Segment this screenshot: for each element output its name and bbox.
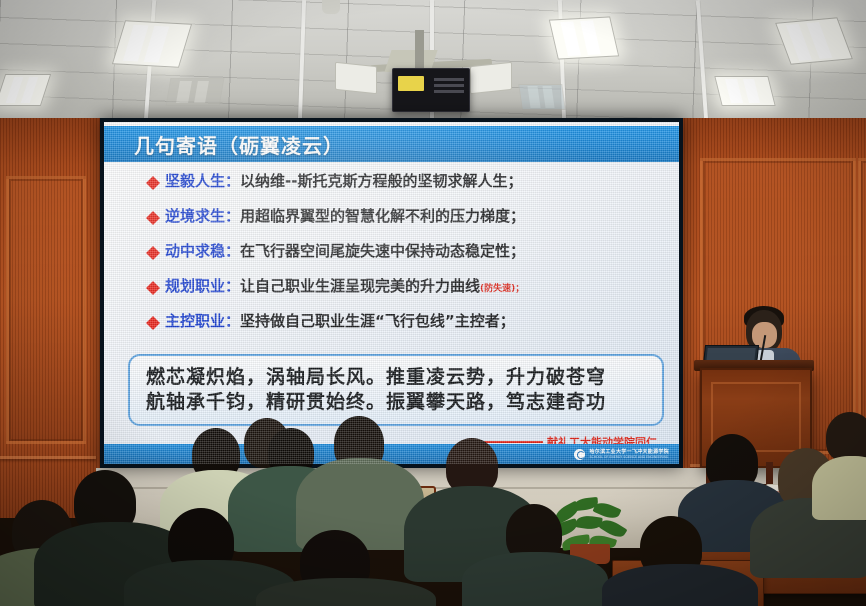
university-logo-icon bbox=[574, 449, 585, 460]
wall-panel bbox=[6, 176, 86, 444]
slide-title-bar: 几句寄语（砺翼凌云） bbox=[104, 126, 679, 162]
projector-label bbox=[398, 76, 424, 91]
footer-org-sub: SCHOOL OF ENERGY SCIENCE AND ENGINEERING bbox=[589, 455, 669, 459]
bullet-lead: 规划职业： bbox=[165, 275, 240, 296]
smoke-detector bbox=[322, 0, 340, 14]
poem-line-2: 航轴承千钧，精研贯始终。振翼攀天路，笃志建奇功 bbox=[146, 390, 662, 415]
bullet-lead: 主控职业： bbox=[165, 310, 240, 331]
poem-line-1: 燃芯凝炽焰，涡轴局长风。推重凌云势，升力破苍穹 bbox=[146, 365, 662, 390]
audience-head bbox=[826, 412, 866, 462]
conference-room-photo: 几句寄语（砺翼凌云） 坚毅人生： 以纳维--斯托克斯方程般的坚韧求解人生； 逆境… bbox=[0, 0, 866, 606]
footer-org: 哈尔滨工业大学一飞冲天能源学院 SCHOOL OF ENERGY SCIENCE… bbox=[589, 449, 669, 459]
bullet-lead: 逆境求生： bbox=[165, 205, 240, 226]
diamond-bullet-icon bbox=[146, 274, 160, 288]
diamond-bullet-icon bbox=[146, 309, 160, 323]
bullet-body: 在飞行器空间尾旋失速中保持动态稳定性； bbox=[240, 240, 525, 261]
ceiling-speaker bbox=[335, 62, 377, 94]
wall-panel bbox=[858, 158, 866, 454]
bullet-body: 让自己职业生涯呈现完美的升力曲线 bbox=[240, 275, 480, 296]
projector bbox=[392, 68, 470, 112]
ceiling-light bbox=[714, 76, 775, 106]
audience-shoulders bbox=[602, 564, 758, 606]
projector-mount-pole bbox=[415, 30, 424, 72]
diamond-bullet-icon bbox=[146, 204, 160, 218]
bullet-lead: 坚毅人生： bbox=[165, 170, 240, 191]
signature-rule bbox=[483, 441, 543, 443]
audience-shoulders bbox=[462, 552, 608, 606]
bullet-note: (防失速)； bbox=[480, 281, 524, 294]
ceiling-light-off bbox=[518, 84, 566, 110]
ceiling-light-off bbox=[166, 78, 225, 106]
presentation-slide: 几句寄语（砺翼凌云） 坚毅人生： 以纳维--斯托克斯方程般的坚韧求解人生； 逆境… bbox=[104, 122, 679, 464]
bullet-item: 动中求稳： 在飞行器空间尾旋失速中保持动态稳定性； bbox=[146, 240, 666, 261]
projection-screen: 几句寄语（砺翼凌云） 坚毅人生： 以纳维--斯托克斯方程般的坚韧求解人生； 逆境… bbox=[100, 118, 683, 468]
ceiling-light bbox=[112, 20, 192, 67]
audience-shoulders bbox=[812, 456, 866, 520]
ceiling-light bbox=[549, 16, 619, 59]
slide-bullet-list: 坚毅人生： 以纳维--斯托克斯方程般的坚韧求解人生； 逆境求生： 用超临界翼型的… bbox=[146, 170, 666, 345]
slide-footer-bar: 哈尔滨工业大学一飞冲天能源学院 SCHOOL OF ENERGY SCIENCE… bbox=[104, 444, 679, 464]
bullet-lead: 动中求稳： bbox=[165, 240, 240, 261]
bullet-item: 坚毅人生： 以纳维--斯托克斯方程般的坚韧求解人生； bbox=[146, 170, 666, 191]
bullet-item: 逆境求生： 用超临界翼型的智慧化解不利的压力梯度； bbox=[146, 205, 666, 226]
bullet-item: 主控职业： 坚持做自己职业生涯“飞行包线”主控者； bbox=[146, 310, 666, 331]
projector-vent bbox=[434, 78, 464, 81]
diamond-bullet-icon bbox=[146, 169, 160, 183]
bullet-item: 规划职业： 让自己职业生涯呈现完美的升力曲线 (防失速)； bbox=[146, 275, 666, 296]
ceiling bbox=[0, 0, 866, 122]
bullet-body: 用超临界翼型的智慧化解不利的压力梯度； bbox=[240, 205, 525, 226]
wall-panel-seam bbox=[0, 456, 96, 459]
slide-title-text: 几句寄语（砺翼凌云） bbox=[134, 130, 344, 159]
ceiling-speaker bbox=[470, 62, 512, 94]
poem-box: 燃芯凝炽焰，涡轴局长风。推重凌云势，升力破苍穹 航轴承千钧，精研贯始终。振翼攀天… bbox=[128, 354, 664, 426]
bullet-body: 以纳维--斯托克斯方程般的坚韧求解人生； bbox=[240, 170, 522, 191]
bullet-body: 坚持做自己职业生涯“飞行包线”主控者； bbox=[240, 310, 515, 331]
diamond-bullet-icon bbox=[146, 239, 160, 253]
